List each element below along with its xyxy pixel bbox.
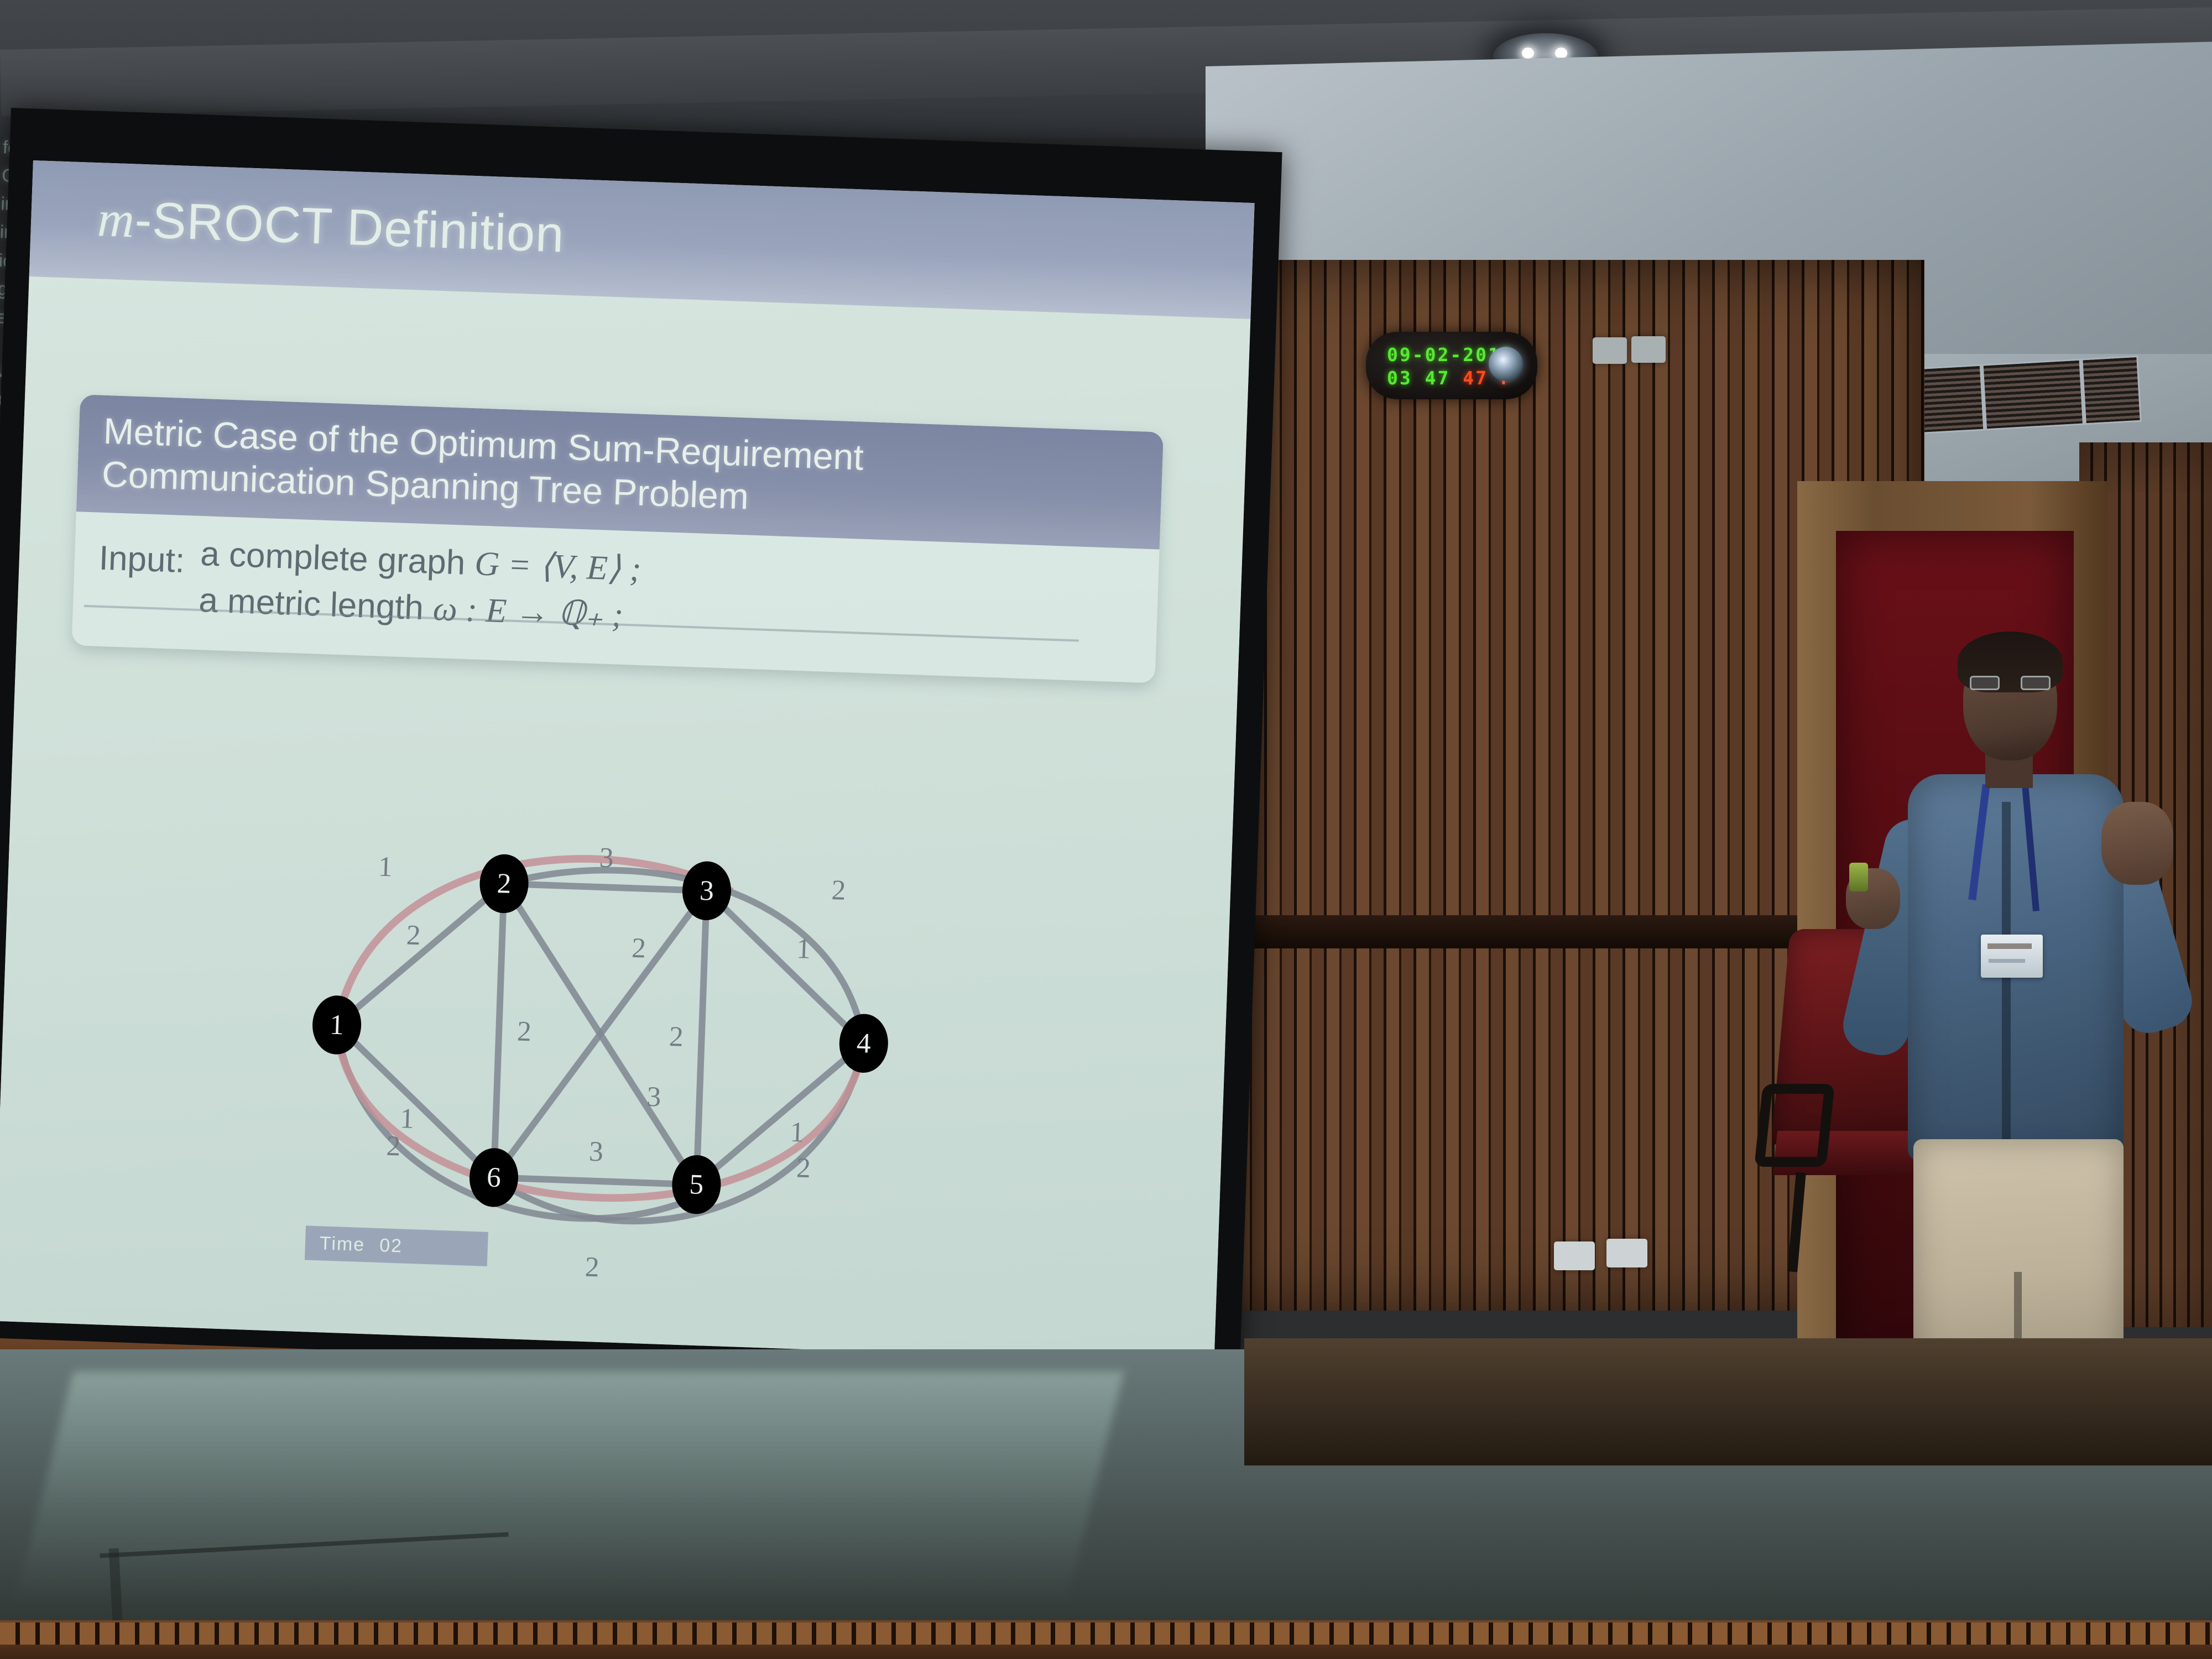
badge-name-line (1987, 943, 2032, 949)
chair-leg (1787, 1172, 1806, 1272)
wall-switch[interactable] (1593, 337, 1627, 364)
weight-1-2: 2 (406, 919, 421, 951)
input-line-1-math: G = ⟨V, E⟩ ; (474, 545, 641, 588)
presentation-clicker[interactable] (1849, 863, 1868, 891)
weight-1-3: 1 (378, 851, 393, 883)
badge-detail-line (1989, 959, 2025, 963)
glasses-lens-left (1970, 676, 2000, 690)
slide-title-italic: m (97, 190, 136, 248)
input-label: Input: (98, 529, 186, 582)
presenter-name-badge (1981, 935, 2043, 978)
weight-6-4: 2 (796, 1152, 811, 1184)
clock-seconds: 47 (1463, 367, 1488, 389)
power-outlet[interactable] (1554, 1241, 1595, 1270)
weight-3-4: 1 (796, 933, 811, 965)
weight-4-5: 1 (790, 1117, 805, 1149)
projection-screen-area: m-SROCT Definition Metric Case of the Op… (0, 50, 1305, 1377)
edge-3-5 (696, 891, 707, 1185)
graph-node-2-label: 2 (497, 868, 512, 900)
input-line-1-text: a complete graph (200, 535, 475, 582)
projection-screen: m-SROCT Definition Metric Case of the Op… (0, 160, 1255, 1364)
clock-hour-minute: 03 47 (1387, 367, 1450, 389)
definition-block: Metric Case of the Optimum Sum-Requireme… (71, 394, 1164, 683)
weight-3-6: 3 (646, 1081, 662, 1113)
graph-node-6-label: 6 (486, 1161, 502, 1193)
stage-front-panel (1244, 1338, 2212, 1465)
weight-2-5: 2 (631, 932, 646, 964)
power-outlet[interactable] (1606, 1239, 1647, 1267)
weight-2-3: 3 (599, 842, 614, 874)
presenter (1825, 636, 2168, 1454)
edge-3-4 (702, 891, 869, 1044)
glasses-icon (1970, 676, 2051, 690)
glasses-lens-right (2021, 676, 2051, 690)
edge-2-6 (494, 884, 504, 1177)
graph-node-4-label: 4 (856, 1027, 872, 1060)
graph-node-5-label: 5 (689, 1168, 705, 1201)
ceiling-bulb-left (1522, 48, 1534, 59)
weight-5-6: 3 (588, 1136, 604, 1168)
weight-2-6: 2 (517, 1015, 532, 1047)
graph-node-1-label: 1 (329, 1009, 345, 1041)
stage-reflection (15, 1371, 1124, 1604)
weight-3-5: 2 (669, 1021, 684, 1053)
slide-time-bar: Time 02 (305, 1225, 488, 1266)
time-label: Time (319, 1233, 366, 1256)
weight-6-1: 1 (399, 1103, 415, 1135)
wall-switch[interactable] (1631, 336, 1666, 363)
time-value: 02 (379, 1235, 403, 1257)
edge-2-3 (504, 884, 707, 891)
digital-clock: 09-02-2015 03 47 47 P (1366, 332, 1537, 399)
ceiling-bulb-right (1555, 48, 1567, 59)
edge-5-6 (494, 1177, 696, 1185)
weight-1-5: 2 (386, 1130, 401, 1162)
chair-armrest (1754, 1084, 1835, 1167)
weight-2-4: 2 (831, 874, 847, 906)
vent-divider (2079, 360, 2086, 423)
lecture-hall-scene: 09-02-2015 03 47 47 P for the Case of im… (0, 0, 2212, 1659)
input-line-2-math: ω : E → ℚ₊ ; (432, 590, 624, 634)
stage-edge-trim (0, 1620, 2212, 1659)
presenter-shirt-placket (2002, 802, 2011, 1156)
input-line-2-text: a metric length (198, 581, 434, 628)
presentation-slide: m-SROCT Definition Metric Case of the Op… (0, 160, 1255, 1364)
weight-1-4: 2 (585, 1251, 600, 1284)
vent-divider (1980, 366, 1987, 429)
graph-node-3-label: 3 (699, 875, 714, 907)
presenter-right-hand (2101, 802, 2173, 885)
clock-sensor-icon (1489, 347, 1523, 381)
edge-6-1 (332, 1025, 499, 1177)
